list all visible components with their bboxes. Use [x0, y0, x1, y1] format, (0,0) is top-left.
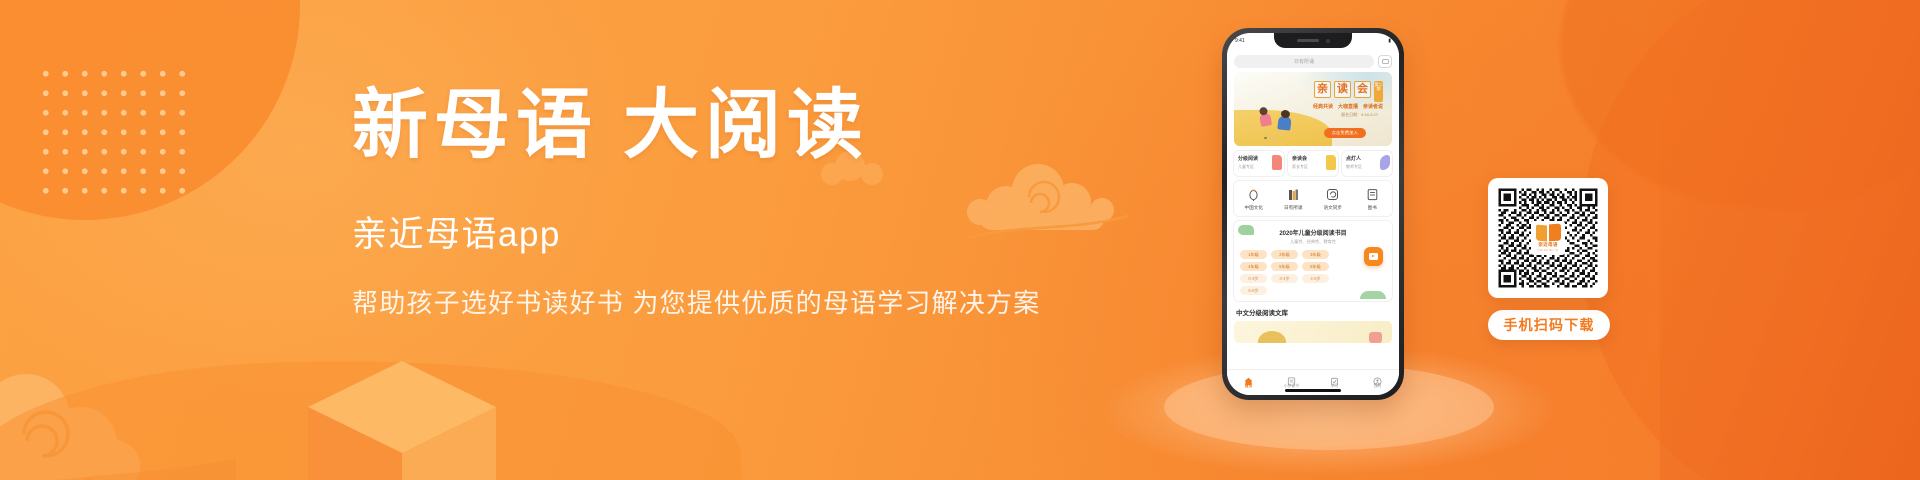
- hero-title: 亲 读 会 第二期: [1314, 81, 1383, 102]
- tab-label: 我的: [1356, 384, 1399, 389]
- grade-tag[interactable]: 6年级: [1302, 262, 1329, 271]
- tagline: 帮助孩子选好书读好书 为您提供优质的母语学习解决方案: [352, 283, 1052, 320]
- tab-label: 小步读书: [1270, 384, 1313, 389]
- qr-logo-subtext: QIN JIN MU YU: [1538, 249, 1559, 252]
- quick-links: 中国文化 日有所诵 语文同步: [1234, 181, 1392, 216]
- message-icon[interactable]: [1378, 55, 1392, 68]
- front-camera: [1326, 39, 1330, 43]
- hero-title-char-2: 读: [1334, 81, 1351, 98]
- card-decor-icon: [1326, 155, 1336, 170]
- qr-logo-text: 亲近母语: [1538, 242, 1558, 248]
- hero-sub-3: 亲读者说: [1363, 103, 1383, 110]
- grade-tag[interactable]: 1年级: [1240, 250, 1267, 259]
- grade-tag[interactable]: 3年级: [1302, 250, 1329, 259]
- age-tag[interactable]: 4-5岁: [1302, 274, 1329, 283]
- user-icon: [1373, 373, 1382, 382]
- hero-side-tag: 第二期: [1374, 81, 1383, 102]
- qr-block: 亲近母语 QIN JIN MU YU 手机扫码下载: [1488, 178, 1644, 340]
- tab-label: 首页: [1227, 384, 1270, 389]
- lantern-icon: [1246, 187, 1261, 202]
- list-icon: [1287, 373, 1296, 382]
- grade-tag[interactable]: 2年级: [1271, 250, 1298, 259]
- quicklink-label: 图书: [1353, 205, 1393, 211]
- age-tag[interactable]: 3-4岁: [1271, 274, 1298, 283]
- age-tag[interactable]: 0-3岁: [1240, 274, 1267, 283]
- library-title: 中文分级阅读文库: [1236, 307, 1390, 317]
- isometric-cube-icon: [300, 355, 505, 480]
- quicklink-books[interactable]: 图书: [1353, 187, 1393, 211]
- quicklink-label: 日有所诵: [1274, 205, 1314, 211]
- speaker-grill: [1297, 39, 1319, 42]
- book-icon: [1365, 187, 1380, 202]
- tab-profile[interactable]: 我的: [1356, 373, 1399, 389]
- tab-reading[interactable]: 小步读书: [1270, 373, 1313, 389]
- book-logo-icon: [1536, 224, 1561, 241]
- phone-mockup: 9:41 ▮ 日有所诵: [1222, 28, 1422, 448]
- quicklink-textbook-sync[interactable]: 语文同步: [1313, 187, 1353, 211]
- app-name: 亲近母语app: [352, 206, 1052, 257]
- bottom-tabbar: 首页 小步读书 学习: [1227, 369, 1399, 395]
- phone-frame: 9:41 ▮ 日有所诵: [1222, 28, 1404, 400]
- quicklink-daily-recite[interactable]: 日有所诵: [1274, 187, 1314, 211]
- category-cards: 分级阅读 儿童专区 亲读会 家长专区 点灯人 教师专区: [1234, 151, 1392, 176]
- video-play-icon[interactable]: [1364, 247, 1383, 266]
- hero-date: 报名日期：9.16-9.27: [1341, 112, 1378, 118]
- qr-code-pixels: 亲近母语 QIN JIN MU YU: [1496, 186, 1600, 290]
- leaf-decor-icon: [1238, 225, 1254, 235]
- library-book-decor: [1258, 331, 1286, 343]
- card-teacher-zone[interactable]: 点灯人 教师专区: [1342, 151, 1392, 176]
- status-time: 9:41: [1235, 38, 1245, 44]
- search-input[interactable]: 日有所诵: [1234, 55, 1374, 68]
- card-graded-reading[interactable]: 分级阅读 儿童专区: [1234, 151, 1284, 176]
- card-decor-icon: [1272, 155, 1282, 170]
- qr-code-card[interactable]: 亲近母语 QIN JIN MU YU: [1488, 178, 1608, 298]
- hero-title-char-1: 亲: [1314, 81, 1331, 98]
- tab-home[interactable]: 首页: [1227, 373, 1270, 389]
- grade-tags: 1年级 2年级 3年级 4年级 5年级 6年级 0-3岁 3-4岁 4-5岁 5…: [1240, 250, 1358, 295]
- hero-banner[interactable]: 亲 读 会 第二期 经典共读 大咖直播 亲读者说 报名日期：9.16-9.27 …: [1234, 72, 1392, 146]
- booklist-card: 2020年儿童分级阅读书目 儿童性、经典性、教育性 1年级 2年级 3年级 4年…: [1234, 221, 1392, 301]
- hero-sub-2: 大咖直播: [1338, 103, 1358, 110]
- home-icon: [1244, 373, 1253, 382]
- booklist-title: 2020年儿童分级阅读书目: [1240, 228, 1386, 237]
- phone-notch: [1274, 33, 1352, 48]
- page-title: 新母语 大阅读: [352, 88, 1052, 164]
- booklist-subtitle: 儿童性、经典性、教育性: [1240, 239, 1386, 245]
- grade-tag[interactable]: 5年级: [1271, 262, 1298, 271]
- book-stack-icon: [1286, 187, 1301, 202]
- promo-banner: 新母语 大阅读 亲近母语app 帮助孩子选好书读好书 为您提供优质的母语学习解决…: [0, 0, 1920, 480]
- sync-icon: [1325, 187, 1340, 202]
- quicklink-label: 语文同步: [1313, 205, 1353, 211]
- hero-carousel-dots[interactable]: [1264, 137, 1276, 140]
- quicklink-chinese-culture[interactable]: 中国文化: [1234, 187, 1274, 211]
- status-battery: ▮: [1388, 38, 1391, 44]
- age-tag[interactable]: 5-6岁: [1240, 286, 1267, 295]
- clipboard-icon: [1330, 373, 1339, 382]
- hero-kid-right: [1277, 115, 1291, 130]
- decor-right-gradient: [1660, 0, 1920, 480]
- hero-subtitle: 经典共读 大咖直播 亲读者说: [1313, 103, 1383, 110]
- grade-tag[interactable]: 4年级: [1240, 262, 1267, 271]
- leaf-decor-icon-2: [1360, 291, 1386, 299]
- dot-grid-pattern: [34, 62, 194, 202]
- hero-sub-1: 经典共读: [1313, 103, 1333, 110]
- search-row: 日有所诵: [1227, 50, 1399, 72]
- qr-center-logo: 亲近母语 QIN JIN MU YU: [1531, 221, 1565, 255]
- library-book-decor-2: [1369, 332, 1382, 343]
- hero-join-button[interactable]: 点击免费加入: [1324, 128, 1366, 138]
- phone-screen: 9:41 ▮ 日有所诵: [1227, 33, 1399, 395]
- tab-study[interactable]: 学习: [1313, 373, 1356, 389]
- tab-label: 学习: [1313, 384, 1356, 389]
- home-indicator: [1285, 389, 1341, 392]
- hero-title-char-3: 会: [1354, 81, 1371, 98]
- quicklink-label: 中国文化: [1234, 205, 1274, 211]
- library-card[interactable]: [1234, 321, 1392, 343]
- download-button[interactable]: 手机扫码下载: [1488, 310, 1610, 340]
- headline-block: 新母语 大阅读 亲近母语app 帮助孩子选好书读好书 为您提供优质的母语学习解决…: [352, 88, 1052, 320]
- app-content: 日有所诵 亲 读 会 第二期: [1227, 50, 1399, 369]
- card-parent-club[interactable]: 亲读会 家长专区: [1288, 151, 1338, 176]
